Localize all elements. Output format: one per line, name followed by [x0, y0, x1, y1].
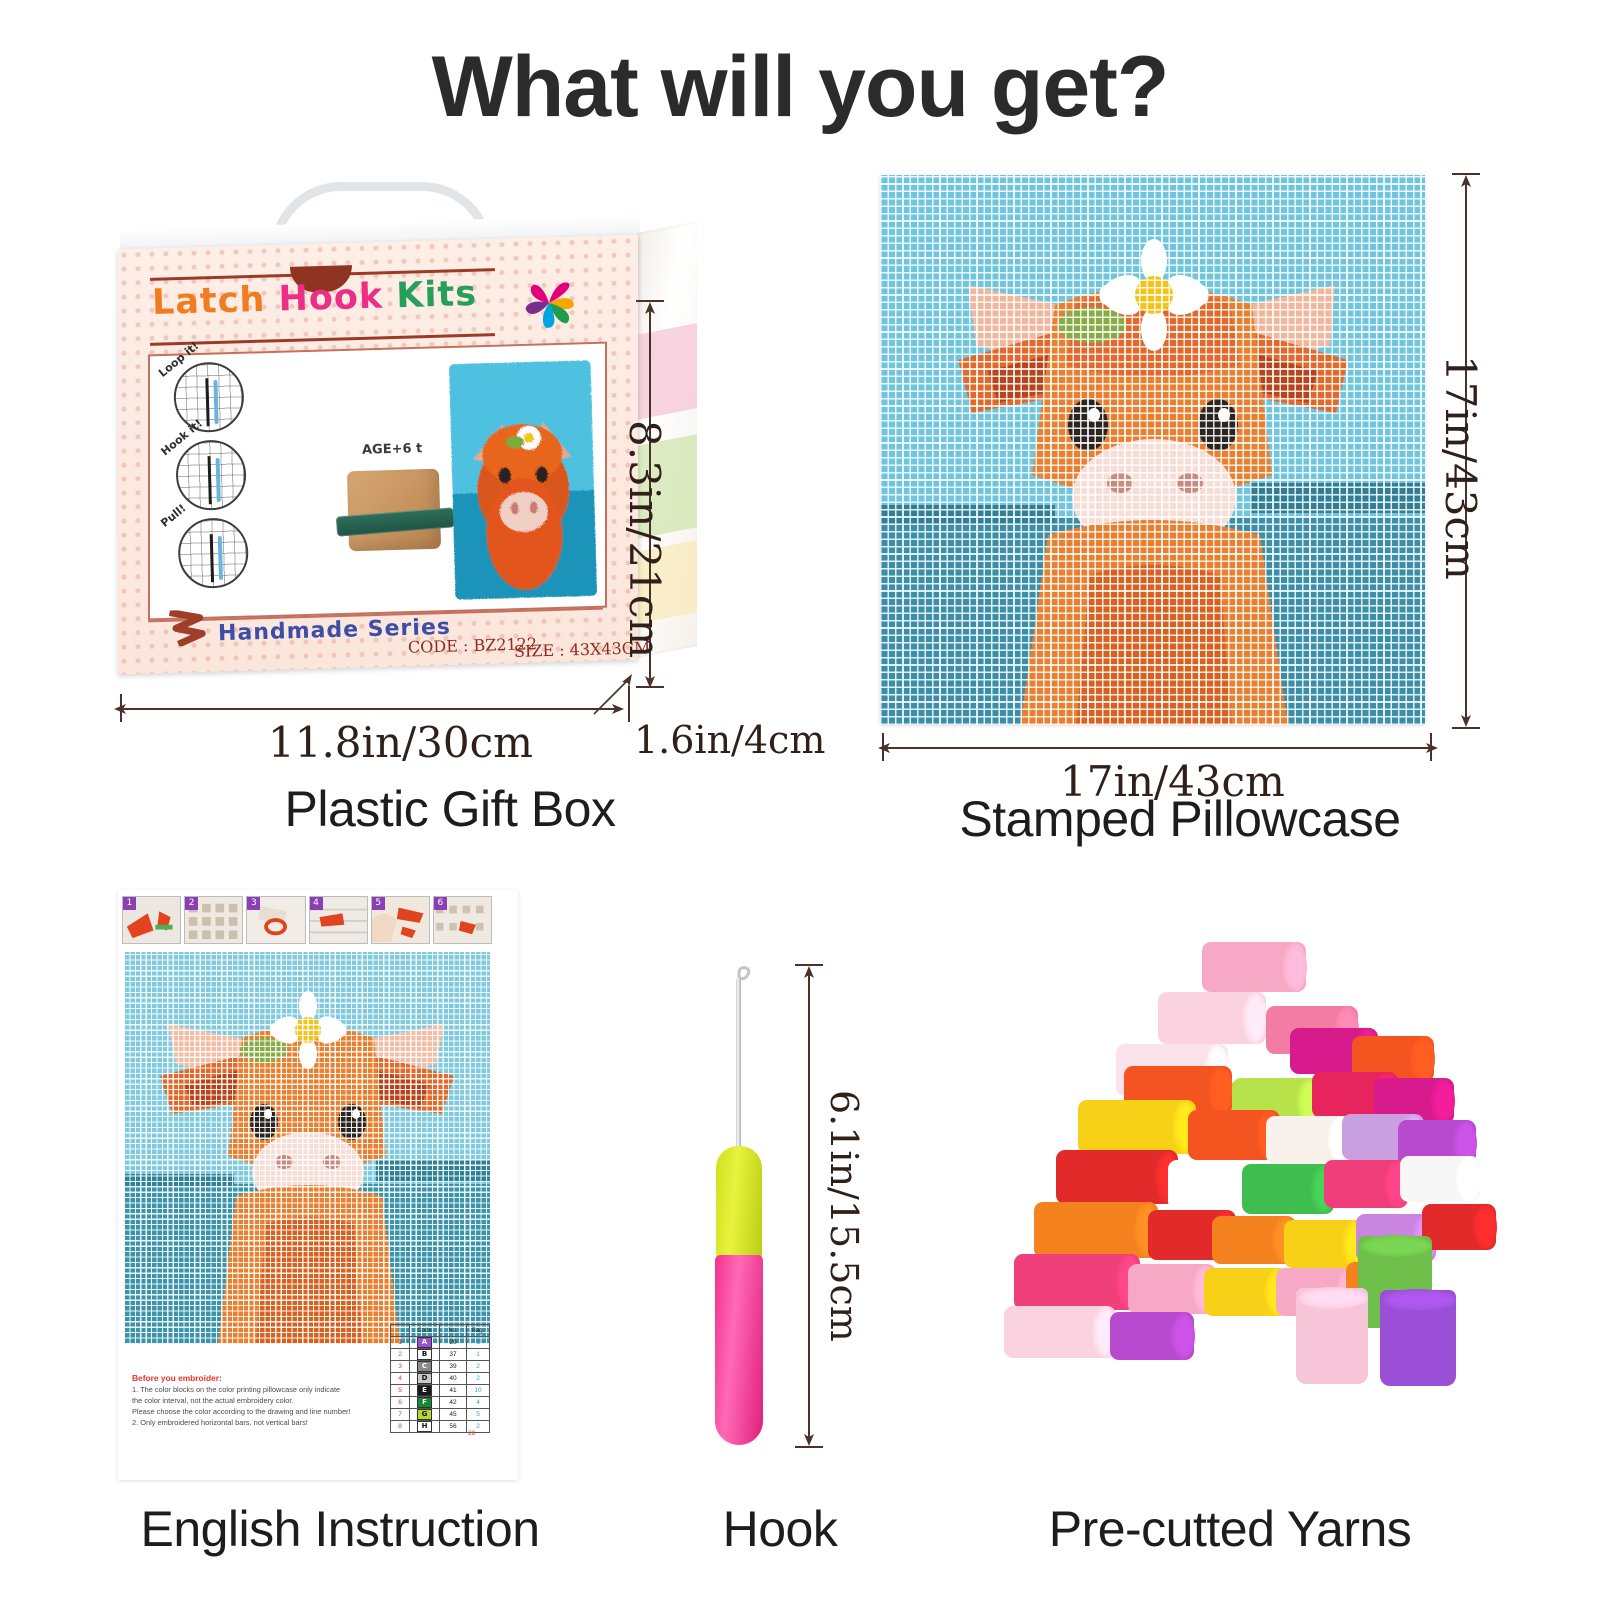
cell-bag: 4	[467, 1397, 490, 1409]
pillowcase-artwork	[880, 175, 1425, 725]
tutorial-thumb-3: 3	[246, 896, 305, 944]
brand-word-latch: Latch	[152, 280, 266, 323]
caption-english-instruction: English Instruction	[60, 1500, 620, 1558]
yarn-bundle	[1110, 1312, 1194, 1360]
color-swatch: E	[417, 1385, 432, 1396]
table-row: 2B371	[391, 1349, 490, 1361]
pillow-dim-arrow-top	[1458, 175, 1474, 189]
dim-width-label: 11.8in/30cm	[268, 718, 533, 767]
color-code-total: 28	[468, 1430, 475, 1437]
step-yarn	[216, 458, 221, 502]
color-swatch: B	[417, 1349, 432, 1360]
cell-number: 42	[440, 1397, 467, 1409]
instruction-color-chart	[124, 952, 490, 1344]
yarn-bundle	[1242, 1164, 1334, 1214]
hook-dim-tick-bottom	[795, 1446, 823, 1448]
dim-depth-label: 1.6in/4cm	[634, 718, 825, 762]
yarn-bundle	[1056, 1150, 1178, 1204]
pillow-dim-arrow-left	[878, 740, 892, 756]
cell-number: 45	[440, 1409, 467, 1421]
step-yarn	[213, 380, 218, 424]
color-code-table: Code No. Bag. 1A2012B3713C3924D4025E4110…	[390, 1324, 490, 1433]
yarn-bundle	[1004, 1306, 1116, 1358]
cell-number: 20	[440, 1337, 467, 1349]
cell-bag: 1	[467, 1337, 490, 1349]
dim-height-label: 8.3in/21cm	[620, 420, 669, 658]
tutorial-thumb-2: 2	[184, 896, 243, 944]
cell-code: C	[410, 1361, 440, 1373]
english-instruction-panel: 1 2 3	[118, 890, 518, 1480]
cell-index: 4	[391, 1373, 410, 1385]
step-circle-pull	[177, 517, 249, 589]
note-line-2: the color interval, not the actual embro…	[132, 1396, 293, 1405]
cell-code: A	[410, 1337, 440, 1349]
caption-hook: Hook	[630, 1500, 930, 1558]
cell-index: 6	[391, 1397, 410, 1409]
cell-bag: 2	[467, 1361, 490, 1373]
step-arrow	[208, 456, 212, 504]
age-tag: AGE+6 t	[362, 441, 423, 458]
tutorial-thumb-1: 1	[122, 896, 181, 944]
cell-number: 37	[440, 1349, 467, 1361]
step-loop-it: Loop it!	[159, 355, 253, 430]
dim-height-arrow-top	[642, 302, 658, 316]
table-row: 6F424	[391, 1397, 490, 1409]
note-line-4: 2. Only embroidered horizontal bars, not…	[132, 1418, 308, 1427]
pinwheel-logo-icon	[515, 269, 583, 337]
hook-handle-lower	[715, 1255, 763, 1445]
thumb-number: 5	[372, 897, 385, 910]
step-arrow	[210, 534, 214, 582]
yarn-bundle	[1034, 1202, 1158, 1258]
cell-bag: 1	[467, 1349, 490, 1361]
thumb-number: 1	[123, 897, 136, 910]
page-title: What will you get?	[0, 38, 1600, 137]
color-swatch: A	[417, 1337, 432, 1348]
hook-dim-arrow-top	[801, 966, 817, 980]
color-swatch: F	[417, 1397, 432, 1408]
cell-number: 41	[440, 1385, 467, 1397]
table-row: 1A201	[391, 1337, 490, 1349]
cell-code: B	[410, 1349, 440, 1361]
thumb-number: 6	[434, 897, 447, 910]
cell-number: 56	[440, 1421, 467, 1433]
cell-code: D	[410, 1373, 440, 1385]
table-row: 5E4110	[391, 1385, 490, 1397]
yarn-bundle	[1128, 1264, 1216, 1314]
gift-box-panel: Latch Hook Kits Loop it! Hook it!	[100, 170, 800, 790]
table-row: 3C392	[391, 1361, 490, 1373]
hook-dim-tick-top	[795, 964, 823, 966]
yarn-bundle-upright	[1296, 1288, 1368, 1384]
th-bag: Bag.	[467, 1325, 490, 1337]
brand-word-kits: Kits	[396, 274, 478, 316]
pillow-dim-arrow-bottom	[1458, 713, 1474, 727]
box-step-diagrams: Loop it! Hook it! Pull!	[159, 355, 275, 592]
hook-dim-arrow-bottom	[801, 1432, 817, 1446]
cell-number: 40	[440, 1373, 467, 1385]
yarn-bundle	[1324, 1160, 1408, 1208]
pillow-dim-tick-left	[882, 733, 884, 761]
cell-bag: 2	[467, 1373, 490, 1385]
chart-artwork	[124, 952, 490, 1344]
tutorial-thumbnail-strip: 1 2 3	[122, 896, 492, 944]
hook-needle	[736, 978, 741, 1168]
thumb-number: 4	[310, 897, 323, 910]
before-you-embroider-note: Before you embroider: 1. The color block…	[132, 1372, 382, 1429]
finished-pillow-svg	[449, 360, 598, 600]
step-circle-loop	[173, 361, 245, 433]
cushion-back-illustration	[347, 469, 441, 552]
stamped-pillowcase-panel: 17in/43cm 17in/43cm	[870, 165, 1510, 785]
tutorial-thumb-5: 5	[371, 896, 430, 944]
pillow-dim-tick-top	[1452, 173, 1480, 175]
color-swatch: D	[417, 1373, 432, 1384]
note-heading: Before you embroider:	[132, 1372, 382, 1384]
cell-index: 1	[391, 1337, 410, 1349]
dim-width-line	[122, 708, 618, 710]
yarn-bundle	[1202, 942, 1306, 992]
color-swatch: C	[417, 1361, 432, 1372]
dim-height-tick-top	[636, 300, 664, 302]
thumb-number: 2	[185, 897, 198, 910]
pillow-dim-height-label: 17in/43cm	[1436, 355, 1485, 580]
cell-index: 8	[391, 1421, 410, 1433]
pillowcase-canvas	[880, 175, 1425, 725]
dim-width-tick-left	[120, 694, 122, 722]
cell-bag: 10	[467, 1385, 490, 1397]
cell-bag: 5	[467, 1409, 490, 1421]
cell-code: H	[410, 1421, 440, 1433]
caption-pre-cutted-yarns: Pre-cutted Yarns	[930, 1500, 1530, 1558]
cell-code: F	[410, 1397, 440, 1409]
yarn-bundle-upright	[1380, 1290, 1456, 1386]
tutorial-thumb-4: 4	[309, 896, 368, 944]
cell-code: E	[410, 1385, 440, 1397]
brand-word-hook: Hook	[278, 277, 384, 320]
yarn-bundle	[1266, 1116, 1352, 1164]
pillow-dim-tick-bottom	[1452, 727, 1480, 729]
cell-index: 2	[391, 1349, 410, 1361]
hook-dim-line	[808, 974, 810, 1440]
step-pull: Pull!	[163, 511, 257, 586]
tutorial-thumb-6: 6	[433, 896, 492, 944]
thumb-number: 3	[247, 897, 260, 910]
th-code: Code	[410, 1325, 440, 1337]
table-row: 4D402	[391, 1373, 490, 1385]
yarn-bundle	[1284, 1220, 1366, 1268]
cell-index: 3	[391, 1361, 410, 1373]
yarn-bundle	[1400, 1156, 1480, 1202]
yarn-bundle	[1158, 992, 1266, 1044]
yarn-bundle	[1014, 1254, 1140, 1310]
note-line-3: Please choose the color according to the…	[132, 1407, 351, 1416]
step-hook-it: Hook it!	[161, 433, 255, 508]
table-row: 7G455	[391, 1409, 490, 1421]
yarn-bundle	[1422, 1204, 1496, 1250]
step-arrow	[205, 378, 209, 426]
caption-stamped-pillowcase: Stamped Pillowcase	[860, 790, 1500, 848]
hook-handle-upper	[716, 1146, 762, 1266]
cell-code: G	[410, 1409, 440, 1421]
finished-pillow-photo	[449, 360, 598, 600]
pillow-dim-tick-right	[1430, 733, 1432, 761]
yarn-bundle-pink-preview	[637, 323, 697, 420]
caption-gift-box: Plastic Gift Box	[100, 780, 800, 838]
hook-panel: 6.1in/15.5cm	[690, 950, 880, 1450]
pillow-dim-width-line	[884, 747, 1432, 749]
cell-number: 39	[440, 1361, 467, 1373]
dim-height-tick-bottom	[636, 686, 664, 688]
cell-index: 7	[391, 1409, 410, 1421]
cell-index: 5	[391, 1385, 410, 1397]
table-header-row: Code No. Bag.	[391, 1325, 490, 1337]
dim-depth-arrow	[590, 670, 638, 718]
color-code-table-body: 1A2012B3713C3924D4025E41106F4247G4558H56…	[391, 1337, 490, 1433]
pre-cutted-yarns-panel	[960, 920, 1500, 1440]
th-no: No.	[440, 1325, 467, 1337]
step-yarn	[218, 536, 223, 580]
yarn-bundle	[1078, 1100, 1196, 1154]
step-circle-hook	[175, 439, 247, 511]
th-index	[391, 1325, 410, 1337]
color-swatch: H	[417, 1421, 432, 1432]
note-line-1: 1. The color blocks on the color printin…	[132, 1385, 340, 1394]
color-swatch: G	[417, 1409, 432, 1420]
hook-dim-label: 6.1in/15.5cm	[822, 1090, 866, 1342]
zigzag-ribbon-icon	[166, 609, 211, 646]
